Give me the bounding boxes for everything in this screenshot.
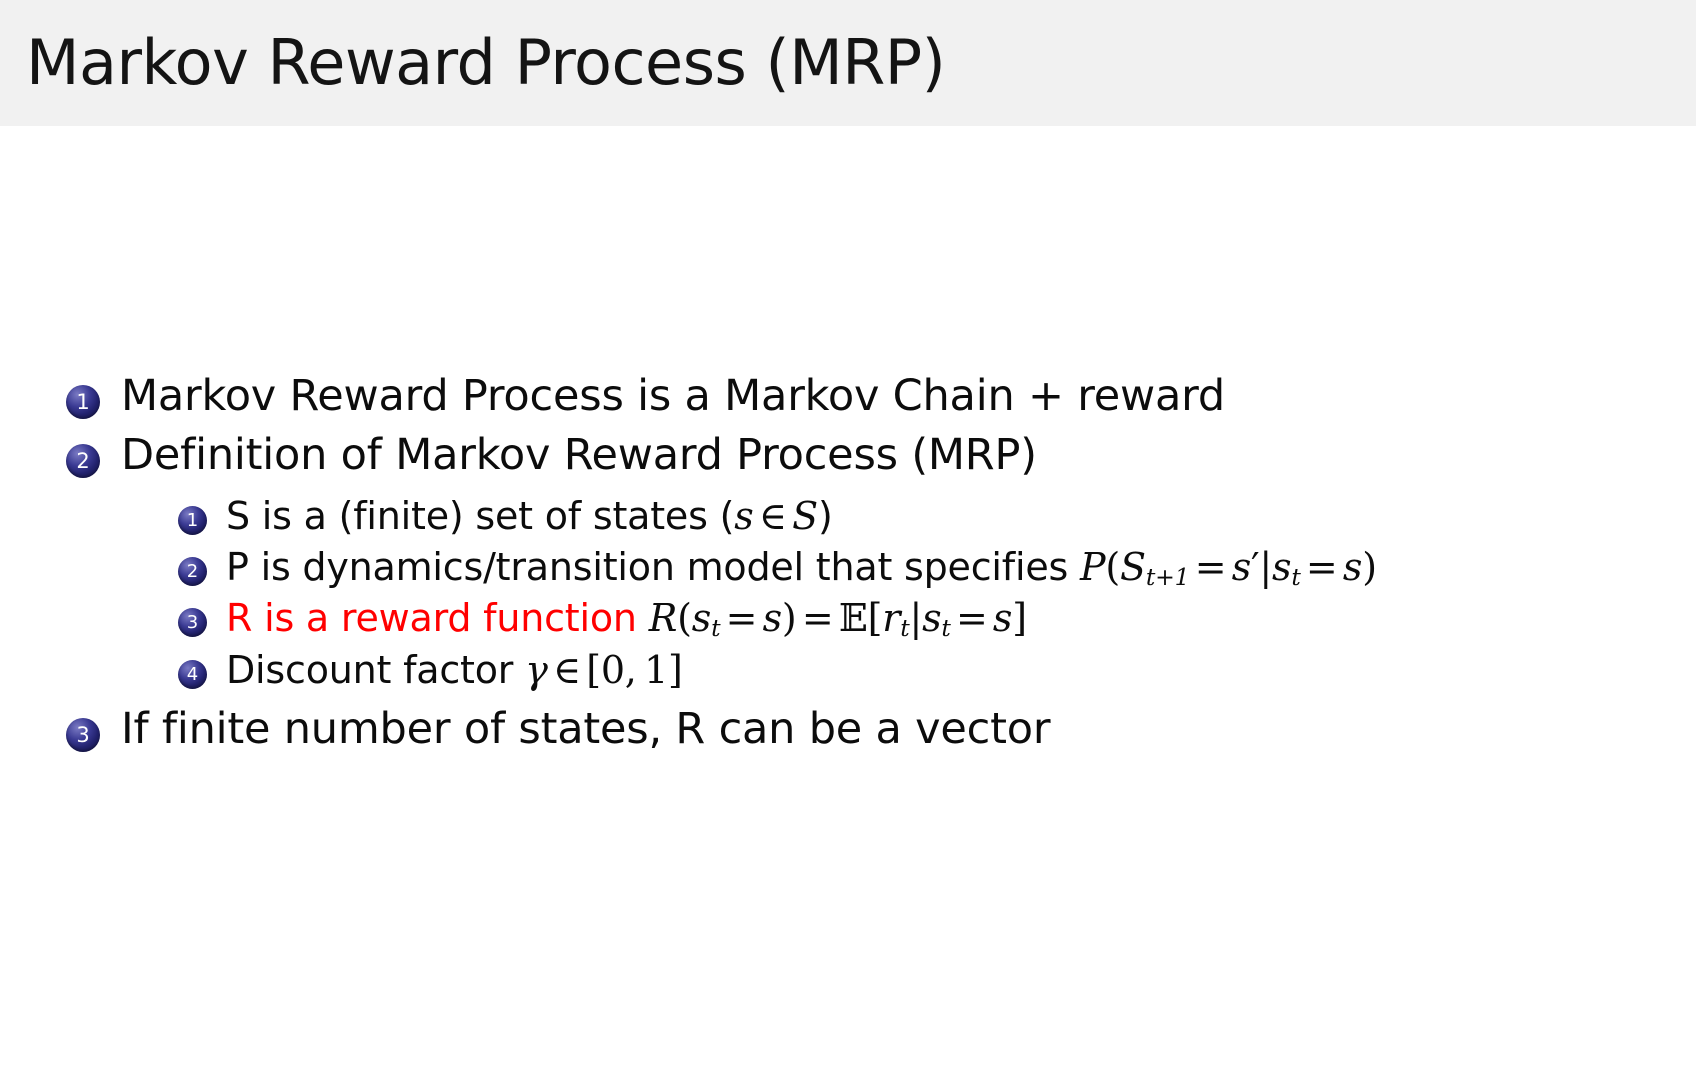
sub-list-item-highlighted: 3 R is a reward function R(st=s)=𝔼[rt|st… xyxy=(0,595,1696,643)
sub-item-prefix-text: Discount factor xyxy=(226,648,525,692)
bullet-number-icon: 1 xyxy=(66,385,100,419)
bullet-number-icon: 3 xyxy=(66,718,100,752)
math-expression: R(st=s)=𝔼[rt|st=s] xyxy=(649,596,1027,640)
slide-header: Markov Reward Process (MRP) xyxy=(0,0,1696,126)
sub-item-prefix-text: P is dynamics/transition model that spec… xyxy=(226,545,1080,589)
sub-list-item-label: R is a reward function R(st=s)=𝔼[rt|st=s… xyxy=(226,595,1027,643)
sub-item-suffix-text: ) xyxy=(818,494,833,538)
sub-list-item-label: S is a (finite) set of states (s∈S) xyxy=(226,493,833,539)
math-expression: γ∈[0, 1] xyxy=(525,648,683,692)
bullet-number-icon: 1 xyxy=(178,506,207,535)
bullet-number-icon: 4 xyxy=(178,660,207,689)
enumerate-level-2: 1 S is a (finite) set of states (s∈S) 2 … xyxy=(0,493,1696,694)
bullet-number-icon: 3 xyxy=(178,608,207,637)
page-title: Markov Reward Process (MRP) xyxy=(26,32,945,94)
list-item-label: Definition of Markov Reward Process (MRP… xyxy=(121,430,1037,482)
bullet-number-icon: 2 xyxy=(66,444,100,478)
list-item: 2 Definition of Markov Reward Process (M… xyxy=(0,430,1696,482)
slide: Markov Reward Process (MRP) 1 Markov Rew… xyxy=(0,0,1696,1080)
math-expression: P(St+1=s′|st=s) xyxy=(1080,545,1377,589)
sub-item-prefix-text: S is a (finite) set of states ( xyxy=(226,494,734,538)
highlighted-text: R is a reward function xyxy=(226,596,637,640)
list-item: 3 If finite number of states, R can be a… xyxy=(0,704,1696,756)
list-item: 1 Markov Reward Process is a Markov Chai… xyxy=(0,371,1696,423)
sub-list-item-label: Discount factor γ∈[0, 1] xyxy=(226,647,683,693)
sub-list-item: 1 S is a (finite) set of states (s∈S) xyxy=(0,493,1696,539)
slide-body: 1 Markov Reward Process is a Markov Chai… xyxy=(0,126,1696,1080)
math-expression: s∈S xyxy=(734,494,818,538)
list-item-label: If finite number of states, R can be a v… xyxy=(121,704,1050,756)
sub-list-item: 4 Discount factor γ∈[0, 1] xyxy=(0,647,1696,693)
enumerate-level-1: 1 Markov Reward Process is a Markov Chai… xyxy=(0,371,1696,762)
sub-list-item-label: P is dynamics/transition model that spec… xyxy=(226,544,1377,592)
list-item-label: Markov Reward Process is a Markov Chain … xyxy=(121,371,1225,423)
sub-list-item: 2 P is dynamics/transition model that sp… xyxy=(0,544,1696,592)
bullet-number-icon: 2 xyxy=(178,557,207,586)
